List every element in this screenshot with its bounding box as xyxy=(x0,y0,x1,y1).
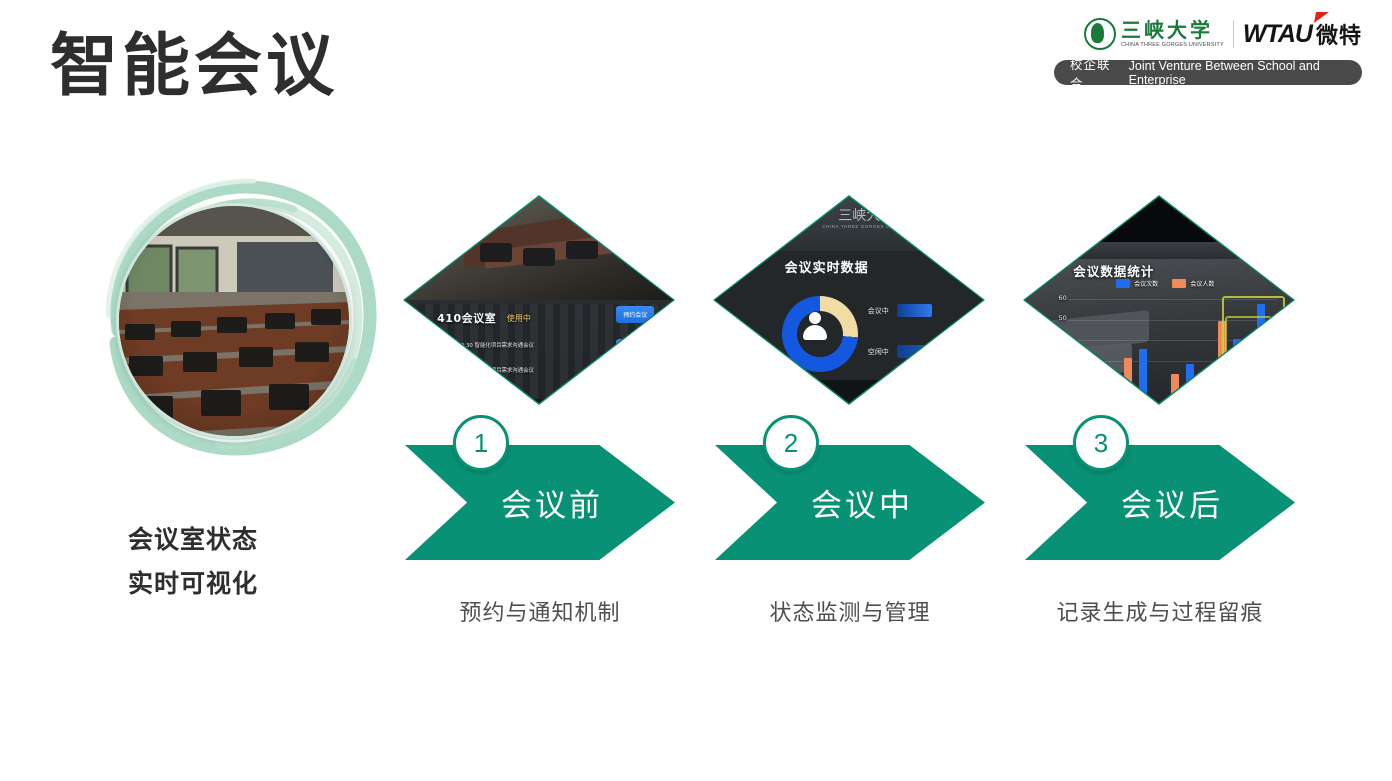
step-1-diamond-border: 410会议室 使用中 09:00-10:30 智能化项目需求沟通会议 13:00… xyxy=(403,195,675,405)
step-2-arrow: 会议中 xyxy=(715,445,985,560)
dashboard-footer xyxy=(715,380,983,403)
left-caption: 会议室状态 实时可视化 xyxy=(128,518,258,606)
booking-screen: 410会议室 使用中 09:00-10:30 智能化项目需求沟通会议 13:00… xyxy=(405,197,673,403)
step-2-diamond-inner: 三峡大学 CHINA THREE GORGES UNIVERSITY 会议实时数… xyxy=(715,197,983,403)
company-name-latin: WTAU xyxy=(1243,20,1312,49)
bar-attendees xyxy=(1124,358,1132,403)
legend-item-attendee-count: 会议人数 xyxy=(1172,279,1214,288)
timeline-line xyxy=(439,344,440,367)
step-1-caption: 预约与通知机制 xyxy=(395,595,685,627)
status-label-idle: 空闲中 xyxy=(868,347,889,357)
bar-meetings xyxy=(1233,339,1241,403)
wtau-logo: WTAU 微特 xyxy=(1243,18,1362,50)
person-head xyxy=(809,312,821,324)
university-name-cn: 三峡大学 xyxy=(1121,20,1224,40)
left-caption-line1: 会议室状态 xyxy=(128,518,258,562)
status-bar-idle xyxy=(897,345,969,358)
step-1-diamond: 410会议室 使用中 09:00-10:30 智能化项目需求沟通会议 13:00… xyxy=(403,195,675,405)
attendance-button[interactable]: 未签人数 xyxy=(616,366,654,383)
window-shape xyxy=(413,204,472,232)
stats-band xyxy=(1025,242,1293,258)
slide-root: 智能会议 三峡大学 CHINA THREE GORGES UNIVERSITY … xyxy=(0,0,1392,781)
bar-meetings xyxy=(1186,364,1194,403)
room-status-badge: 使用中 xyxy=(507,313,531,324)
schedule-row: 13:00-14:30 智能化项目需求沟通会议 xyxy=(440,366,534,374)
step-3-diamond-border: 会议数据统计 会议次数 会议人数 60 50 40 xyxy=(1023,195,1295,405)
status-bar-in-meeting xyxy=(897,304,932,317)
stats-title: 会议数据统计 xyxy=(1073,261,1154,280)
left-caption-line2: 实时可视化 xyxy=(128,562,258,606)
statistics-screen: 会议数据统计 会议次数 会议人数 60 50 40 xyxy=(1025,197,1293,403)
dashboard-title: 会议实时数据 xyxy=(785,257,869,276)
step-2: 三峡大学 CHINA THREE GORGES UNIVERSITY 会议实时数… xyxy=(705,190,995,650)
dashboard-university-logo-en: CHINA THREE GORGES UNIVERSITY xyxy=(822,224,919,229)
step-1: 410会议室 使用中 09:00-10:30 智能化项目需求沟通会议 13:00… xyxy=(395,190,685,650)
room-photo-top xyxy=(405,197,673,312)
schedule-time: 13:00-14:30 xyxy=(440,368,473,374)
legend-swatch-orange xyxy=(1172,279,1186,288)
joint-venture-label-cn: 校企联合 xyxy=(1070,54,1117,92)
y-tick-30: 30 xyxy=(1059,356,1067,364)
step-2-diamond: 三峡大学 CHINA THREE GORGES UNIVERSITY 会议实时数… xyxy=(713,195,985,405)
legend-label-attendee-count: 会议人数 xyxy=(1190,279,1214,288)
schedule-topic: 智能化项目需求沟通会议 xyxy=(475,368,534,374)
step-3-diamond: 会议数据统计 会议次数 会议人数 60 50 40 xyxy=(1023,195,1295,405)
meeting-room-illustration xyxy=(119,206,349,436)
book-meeting-button[interactable]: 预约会议 xyxy=(616,306,654,323)
legend-label-meeting-count: 会议次数 xyxy=(1134,279,1158,288)
step-3: 会议数据统计 会议次数 会议人数 60 50 40 xyxy=(1015,190,1305,650)
meeting-room-photo xyxy=(116,203,352,439)
left-photo-block xyxy=(78,165,388,470)
detection-box xyxy=(1225,316,1272,361)
legend-item-meeting-count: 会议次数 xyxy=(1116,279,1158,288)
attendance-button[interactable]: 未签人数 xyxy=(616,339,654,356)
step-1-number: 1 xyxy=(453,415,509,471)
step-2-caption: 状态监测与管理 xyxy=(705,595,995,627)
bar-meetings xyxy=(1091,380,1099,403)
step-3-label: 会议后 xyxy=(1121,480,1223,525)
chair xyxy=(480,243,512,261)
step-3-arrow: 会议后 xyxy=(1025,445,1295,560)
red-flag-icon xyxy=(1314,12,1329,23)
ctgu-logo: 三峡大学 CHINA THREE GORGES UNIVERSITY xyxy=(1084,18,1224,50)
schedule-topic: 智能化项目需求沟通会议 xyxy=(475,343,534,349)
joint-venture-label-en: Joint Venture Between School and Enterpr… xyxy=(1129,59,1346,87)
schedule-row: 09:00-10:30 智能化项目需求沟通会议 xyxy=(440,341,534,349)
stats-header-dark xyxy=(1025,197,1293,242)
dashboard-university-logo: 三峡大学 xyxy=(838,205,894,225)
chair xyxy=(566,241,598,259)
brand-divider xyxy=(1233,20,1234,48)
room-name: 410会议室 xyxy=(437,310,496,326)
y-tick-60: 60 xyxy=(1059,294,1067,302)
dashboard-footer-label: 参会议人数 xyxy=(785,383,825,394)
brand-logos: 三峡大学 CHINA THREE GORGES UNIVERSITY WTAU … xyxy=(1054,14,1362,54)
step-2-label: 会议中 xyxy=(811,480,913,525)
step-2-number: 2 xyxy=(763,415,819,471)
timeline-dot xyxy=(435,367,439,371)
person-icon xyxy=(802,312,828,340)
person-body xyxy=(803,325,827,340)
bar-attendees xyxy=(1076,387,1084,403)
step-1-label: 会议前 xyxy=(501,480,603,525)
bar-attendees xyxy=(1171,374,1179,403)
step-2-diamond-border: 三峡大学 CHINA THREE GORGES UNIVERSITY 会议实时数… xyxy=(713,195,985,405)
bar-meetings xyxy=(1139,349,1147,403)
chair xyxy=(523,248,555,266)
y-tick-40: 40 xyxy=(1059,335,1067,343)
brand-block: 三峡大学 CHINA THREE GORGES UNIVERSITY WTAU … xyxy=(1054,14,1362,85)
joint-venture-badge: 校企联合 Joint Venture Between School and En… xyxy=(1054,60,1362,85)
step-3-number: 3 xyxy=(1073,415,1129,471)
status-label-in-meeting: 会议中 xyxy=(868,306,889,316)
step-3-caption: 记录生成与过程留痕 xyxy=(1015,595,1305,627)
y-tick-50: 50 xyxy=(1059,314,1067,322)
process-steps: 410会议室 使用中 09:00-10:30 智能化项目需求沟通会议 13:00… xyxy=(395,190,1325,650)
step-3-diamond-inner: 会议数据统计 会议次数 会议人数 60 50 40 xyxy=(1025,197,1293,403)
legend-swatch-blue xyxy=(1116,279,1130,288)
step-1-arrow: 会议前 xyxy=(405,445,675,560)
page-title: 智能会议 xyxy=(50,30,338,105)
university-name-en: CHINA THREE GORGES UNIVERSITY xyxy=(1121,43,1224,49)
realtime-dashboard-screen: 三峡大学 CHINA THREE GORGES UNIVERSITY 会议实时数… xyxy=(715,197,983,403)
step-1-diamond-inner: 410会议室 使用中 09:00-10:30 智能化项目需求沟通会议 13:00… xyxy=(405,197,673,403)
university-seal-icon xyxy=(1084,18,1116,50)
schedule-time: 09:00-10:30 xyxy=(440,343,473,349)
ctgu-names: 三峡大学 CHINA THREE GORGES UNIVERSITY xyxy=(1121,20,1224,49)
timeline-dot xyxy=(435,342,439,346)
